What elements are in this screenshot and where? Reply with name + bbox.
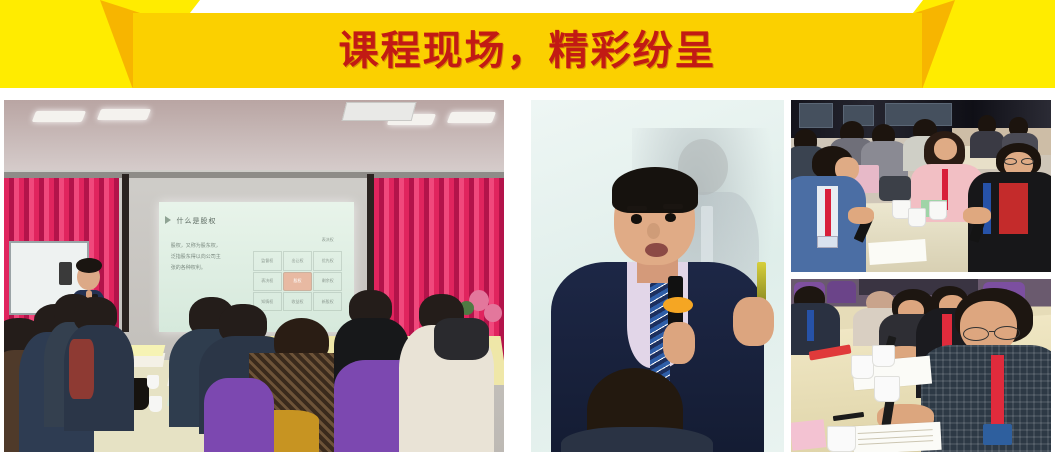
wall-speaker [59,262,72,285]
attendee-hand [848,207,874,224]
lanyard [991,355,1004,431]
purple-chair [204,378,274,452]
paper-cup [147,375,159,389]
audience-hair [434,318,489,360]
speaker-hair [612,167,698,213]
play-triangle-icon [165,216,171,224]
microphone-head [663,297,693,313]
paper-cup [872,345,895,367]
glasses-bridge [989,331,996,332]
attendee-red-shirt [999,183,1028,235]
paper-cup [929,201,947,220]
classroom-lecture-photo: 什么是股权 股权，又称为股东权，泛指股东得以向公司主张的各种权利。 表决权 监督… [4,100,504,452]
notepad [868,239,927,265]
page-banner: 课程现场，精彩纷呈 [0,0,1055,90]
lanyard [825,189,832,241]
ceiling-light [447,112,496,123]
paper-cup [827,426,856,452]
photo-gallery: 什么是股权 股权，又称为股东权，泛指股东得以向公司主张的各种权利。 表决权 监督… [0,97,1055,455]
flower [484,304,502,322]
attendee-face [934,138,957,160]
paper-cup [149,396,162,412]
chair-back [827,281,856,303]
speaker-eyebrow [627,206,647,211]
banner-center-panel: 课程现场，精彩纷呈 [133,13,922,88]
pink-booklet [791,419,826,450]
badge [817,236,838,248]
curtain-rod [4,172,504,178]
paper-cup [874,376,900,402]
speaker-eyebrow [663,204,683,209]
speaker-nose [647,223,660,239]
audience-sleeve [69,339,94,399]
attendee-hand [963,207,992,224]
wall-screen [799,103,833,127]
handbag [879,176,910,202]
speaker-hand-mic [663,322,696,364]
curtain-edge [122,174,129,332]
slide-title: 什么是股权 [177,216,217,226]
speaker-eye [631,214,642,223]
open-notebook [853,422,943,452]
ceiling-light [32,111,86,122]
paper-cup [908,208,926,227]
slide-grid: 表决权 监督权 出让权 优先权 表决权 股权 剩余权 知情权 收益权 新股权 [253,231,343,312]
presenter-hair [76,258,102,273]
speaker-with-microphone-photo [531,100,784,452]
glasses-right-lens [994,326,1020,340]
paper-cup [851,355,874,379]
foreground-attendee-shoulder [561,427,713,452]
speaker-mouth [645,243,668,257]
speaker-hand-raised [733,297,773,346]
slide-body: 股权，又称为股东权，泛指股东得以向公司主张的各种权利。 [171,241,249,274]
group-one-table-photo: 一组 [791,100,1051,272]
slide-highlight-cell: 股权 [283,272,312,291]
banner-title: 课程现场，精彩纷呈 [339,31,717,71]
participants-taking-notes-photo [791,279,1051,452]
air-conditioner [342,102,417,121]
badge [983,424,1012,445]
glasses-left-lens [963,327,989,341]
ceiling-light [97,109,151,120]
lanyard [807,310,815,341]
